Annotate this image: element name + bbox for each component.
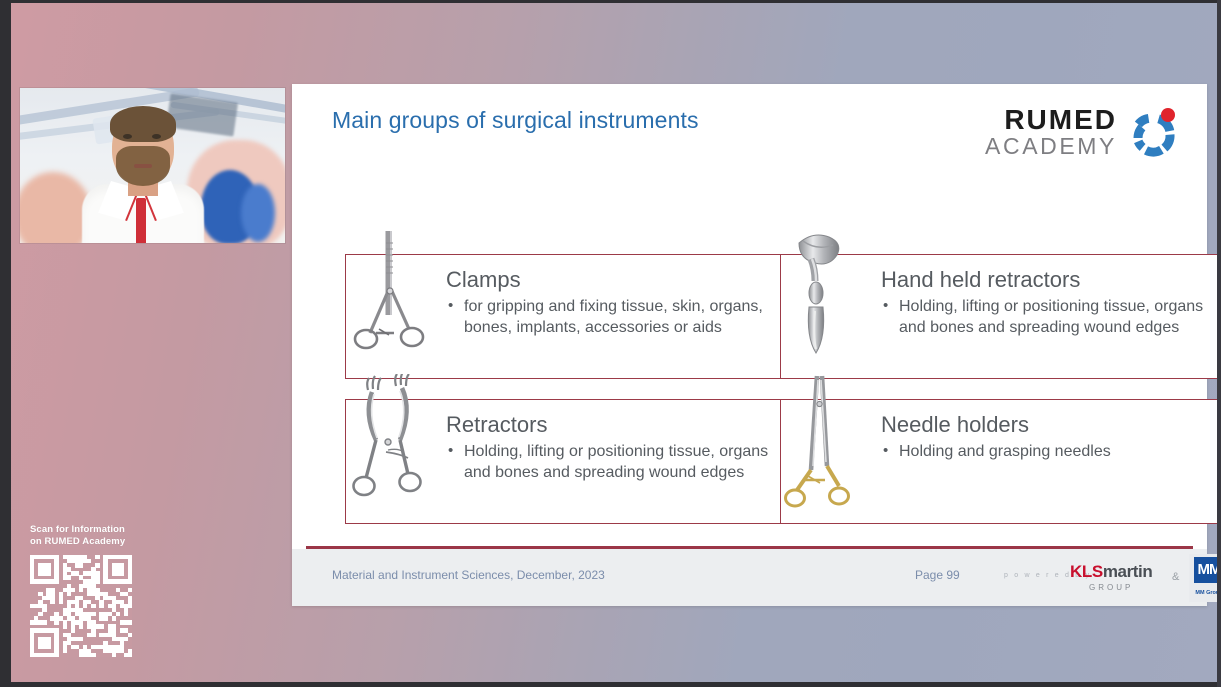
card-bullet-list: Holding, lifting or positioning tissue, … [446, 442, 784, 483]
card-bullet-list: Holding and grasping needles [881, 442, 1219, 463]
card-body: Hand held retractors Holding, lifting or… [881, 267, 1219, 338]
slide-canvas: Main groups of surgical instruments RUME… [292, 84, 1207, 606]
footer-course-label: Material and Instrument Sciences, Decemb… [332, 568, 605, 582]
qr-caption-line-1: Scan for Information [30, 524, 125, 535]
polo-placket [136, 198, 146, 243]
card-body: Retractors Holding, lifting or positioni… [446, 412, 784, 483]
slide-footer: Material and Instrument Sciences, Decemb… [292, 549, 1207, 606]
window-edge-top [0, 0, 1221, 3]
page-number: Page 99 [915, 568, 960, 582]
rumed-ring-mark-icon [1127, 106, 1181, 160]
logo-wordmark-rumed: RUMED [977, 104, 1117, 136]
self-retaining-retractor-icon [346, 374, 446, 524]
list-item: Holding and grasping needles [881, 442, 1219, 463]
presenter-video-tile[interactable] [20, 88, 285, 243]
window-edge-left [0, 0, 11, 687]
hand-held-retractor-icon [781, 229, 881, 379]
kls-martin-logo: KLSmartin GROUP [1070, 562, 1152, 592]
ampersand-label: & [1172, 571, 1179, 583]
card-body: Needle holders Holding and grasping need… [881, 412, 1219, 463]
logo-wordmark-academy: ACADEMY [977, 133, 1117, 160]
rumed-academy-qr-code[interactable] [30, 555, 132, 657]
window-edge-right [1217, 0, 1221, 687]
qr-caption: Scan for Information on RUMED Academy [30, 524, 160, 548]
blue-cap-icon [241, 184, 275, 242]
card-bullet-list: Holding, lifting or positioning tissue, … [881, 297, 1219, 338]
martin-word: martin [1103, 562, 1153, 581]
card-body: Clamps for gripping and fixing tissue, s… [446, 267, 784, 338]
card-bullet-list: for gripping and fixing tissue, skin, or… [446, 297, 784, 338]
presenter-hair [110, 106, 176, 142]
presentation-background: Scan for Information on RUMED Academy Ma… [0, 0, 1221, 687]
card-needle-holders[interactable]: Needle holders Holding and grasping need… [780, 399, 1221, 524]
clamp-hemostat-icon [346, 229, 446, 379]
qr-promo-block: Scan for Information on RUMED Academy [30, 524, 160, 657]
list-item: for gripping and fixing tissue, skin, or… [446, 297, 784, 338]
kls-word: KLS [1070, 562, 1103, 581]
qr-caption-line-2: on RUMED Academy [30, 536, 125, 547]
window-edge-bottom [0, 682, 1221, 687]
rumed-academy-logo: RUMED ACADEMY [977, 100, 1185, 162]
presenter-eye-right [152, 134, 161, 139]
card-hand-held-retractors[interactable]: Hand held retractors Holding, lifting or… [780, 254, 1221, 379]
page-title: Main groups of surgical instruments [332, 107, 699, 134]
card-retractors[interactable]: Retractors Holding, lifting or positioni… [345, 399, 797, 524]
card-clamps[interactable]: Clamps for gripping and fixing tissue, s… [345, 254, 797, 379]
card-title: Needle holders [881, 412, 1219, 438]
kls-martin-wordmark: KLSmartin [1070, 562, 1152, 582]
list-item: Holding, lifting or positioning tissue, … [881, 297, 1219, 338]
card-title: Hand held retractors [881, 267, 1219, 293]
presenter-eye-left [123, 134, 132, 139]
needle-holder-icon [781, 374, 881, 524]
card-title: Retractors [446, 412, 784, 438]
list-item: Holding, lifting or positioning tissue, … [446, 442, 784, 483]
card-title: Clamps [446, 267, 784, 293]
kls-group-word: GROUP [1070, 583, 1152, 592]
presenter-mouth [134, 164, 152, 168]
